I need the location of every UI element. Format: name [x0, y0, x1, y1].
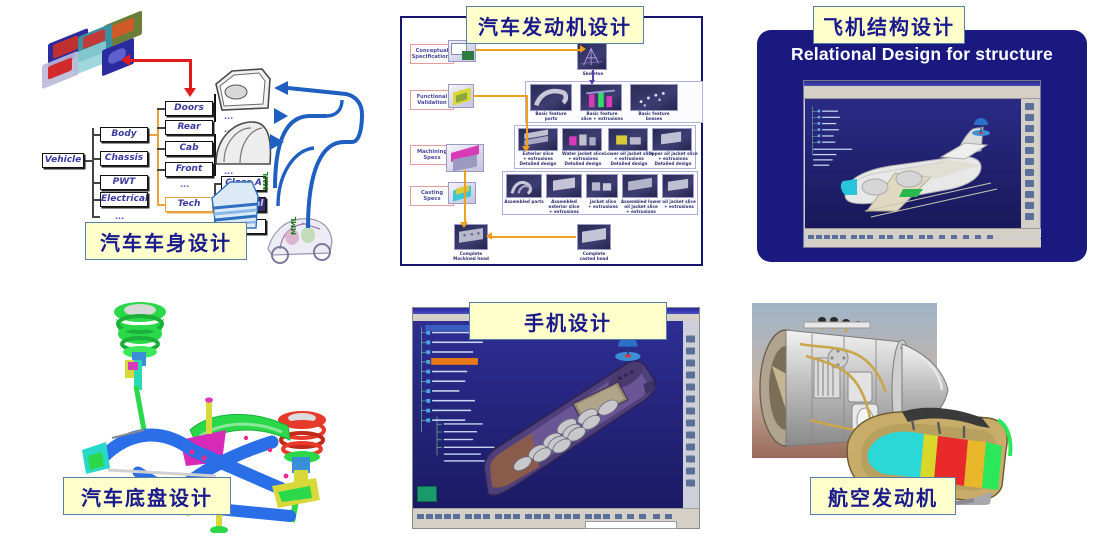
- tree-node-electrical[interactable]: Electrical: [100, 192, 148, 207]
- thumb-basic-feature-bosses: [630, 84, 678, 111]
- tree-node-cab[interactable]: Cab: [165, 141, 213, 156]
- caption-assembled-exterior-slice: Assembled exterior slice + extrusions: [542, 199, 586, 214]
- caption-mobile-phone-design: 手机设计: [469, 302, 667, 340]
- cap-line: Assembled parts: [502, 199, 546, 204]
- cap-line: slice + extrusions: [578, 116, 626, 121]
- thumb-assembled-parts: [506, 174, 542, 198]
- tree-node-chassis[interactable]: Chassis: [100, 151, 148, 166]
- cap-line: Machined head: [448, 256, 494, 261]
- cap-line: + extrusions: [658, 204, 700, 209]
- thumb-assembled-exterior-slice: [546, 174, 582, 198]
- thumb-basic-feature-ports: [530, 84, 572, 111]
- caption-upper-oil-jacket-slice: Upper oil jacket slice + extrusions Deta…: [648, 151, 698, 166]
- viewport-badge: [417, 486, 437, 502]
- caption-complete-casted-head: Complete casted head: [571, 251, 617, 261]
- thumb-functional: [448, 84, 474, 108]
- thumb-complete-casted-head: [577, 224, 611, 250]
- thumb-water-jacket-slice: [562, 128, 602, 151]
- tree-node-vehicle[interactable]: Vehicle: [42, 153, 84, 168]
- slide-canvas: Vehicle Body Chassis PWT Electrical ... …: [0, 0, 1108, 533]
- panel-aircraft-structure-design: Relational Design for structure: [757, 30, 1087, 262]
- relation-label-2: MML: [290, 217, 298, 235]
- caption-basic-feature-slice: Basic feature slice + extrusions: [578, 111, 626, 121]
- phone-status-bar: [413, 519, 699, 528]
- aircraft-headline: Relational Design for structure: [757, 44, 1087, 65]
- caption-car-engine-design: 汽车发动机设计: [466, 6, 644, 44]
- thumb-lower-oil-jacket-slice: [608, 128, 648, 151]
- caption-oil-jacket-slice: oil jacket slice + extrusions: [658, 199, 700, 209]
- caption-complete-machined-head: Complete Machined head: [448, 251, 494, 261]
- blue-relation-arrows: [248, 78, 368, 243]
- tree-node-rear[interactable]: Rear: [165, 120, 213, 135]
- thumb-jacket-slice: [586, 174, 618, 198]
- panel-car-engine-design: Conceptual Specifications Functional Val…: [400, 16, 703, 266]
- left-suspension: [114, 302, 166, 430]
- thumb-basic-feature-slice: [580, 84, 622, 111]
- cap-line: ports: [528, 116, 574, 121]
- tree-node-pwt[interactable]: PWT: [100, 175, 148, 190]
- catia-window-aircraft[interactable]: [803, 80, 1041, 248]
- cap-line: Detailed design: [648, 161, 698, 166]
- mobile-phone-model: [484, 358, 655, 495]
- panel-aero-engine: [752, 300, 1015, 505]
- phone-viewport[interactable]: [413, 321, 699, 508]
- status-input[interactable]: [585, 521, 677, 529]
- stage-line: Specs: [423, 196, 440, 202]
- tree-dots-level2: ...: [180, 178, 189, 190]
- caption-assembled-parts: Assembled parts: [502, 199, 546, 204]
- tree-node-front[interactable]: Front: [165, 162, 213, 177]
- phone-right-toolbar[interactable]: [683, 321, 699, 508]
- cap-line: Detailed design: [514, 161, 562, 166]
- stage-line: Specs: [423, 155, 440, 161]
- caption-aircraft-structure-design: 飞机结构设计: [813, 6, 965, 44]
- phone-bottom-toolbar[interactable]: [413, 508, 699, 519]
- tree-node-body[interactable]: Body: [100, 127, 148, 142]
- caption-water-jacket-slice: Water jacket slice + extrusions Detailed…: [558, 151, 608, 166]
- tree-node-tech[interactable]: Tech: [165, 197, 213, 212]
- right-toolbar[interactable]: [1021, 99, 1039, 235]
- viewport-3d[interactable]: [805, 99, 1023, 235]
- cap-line: + extrusions: [618, 209, 664, 214]
- stage-line: Specifications: [412, 54, 453, 60]
- panel-mobile-phone-design: [412, 307, 700, 529]
- caption-basic-feature-bosses: Basic feature bosses: [628, 111, 680, 121]
- cap-line: bosses: [628, 116, 680, 121]
- toolbar[interactable]: [804, 91, 1040, 99]
- compass-widget: [615, 337, 641, 361]
- tree-dots-level1: ...: [115, 210, 124, 222]
- status-bar: [805, 239, 1041, 247]
- caption-aero-engine: 航空发动机: [810, 477, 956, 515]
- caption-basic-feature-ports: Basic feature ports: [528, 111, 574, 121]
- thumb-machining: [446, 144, 484, 172]
- thumb-assembled-lower-oil-jacket: [622, 174, 658, 198]
- tree-node-doors[interactable]: Doors: [165, 101, 213, 116]
- relation-label-1: MML: [262, 172, 270, 190]
- bottom-toolbar[interactable]: [805, 228, 1041, 238]
- cap-line: Detailed design: [604, 161, 654, 166]
- thumb-casting: [448, 182, 476, 204]
- caption-lower-oil-jacket-slice: Lower oil jacket slice + extrusions Deta…: [604, 151, 654, 166]
- caption-car-chassis-design: 汽车底盘设计: [63, 477, 231, 515]
- thumb-oil-jacket-slice: [662, 174, 694, 198]
- caption-exterior-slice: Exterior slice + extrusions Detailed des…: [514, 151, 562, 166]
- cap-line: casted head: [571, 256, 617, 261]
- caption-car-body-design: 汽车车身设计: [85, 222, 247, 260]
- cap-line: Detailed design: [558, 161, 608, 166]
- stage-line: Validation: [417, 100, 447, 106]
- thumb-upper-oil-jacket-slice: [652, 128, 692, 151]
- cap-line: + extrusions: [542, 209, 586, 214]
